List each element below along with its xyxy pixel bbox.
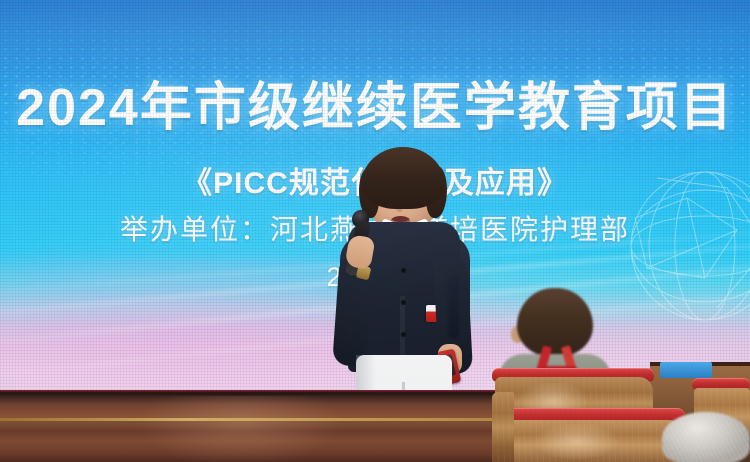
seat-wood-grain	[492, 392, 514, 462]
presentation-photo: 2024年市级继续医学教育项目 《PICC规范化管理及应用》 举办单位：河北燕达…	[0, 0, 750, 462]
seat-wood-highlight	[527, 424, 637, 462]
hair-texture	[662, 412, 750, 462]
speaker-button	[401, 268, 406, 273]
seat-left-arm-wood	[492, 392, 514, 462]
speaker-button	[401, 300, 406, 305]
background-dark-object	[448, 276, 459, 338]
attendee-head-back	[517, 288, 593, 356]
seat-front-wood	[507, 420, 685, 462]
stage-highlight	[120, 396, 360, 462]
side-desk-accent	[660, 362, 712, 378]
speaker-button	[401, 332, 406, 337]
speaker-hair	[361, 147, 445, 209]
gray-haired-attendee	[662, 412, 750, 462]
